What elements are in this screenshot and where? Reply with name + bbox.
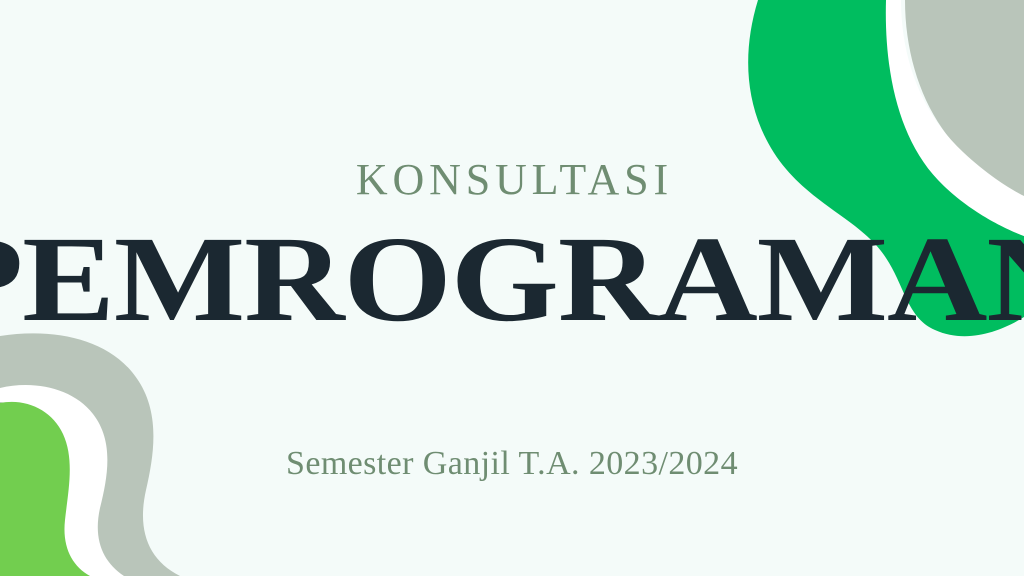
slide-eyebrow: KONSULTASI xyxy=(0,158,1024,202)
title-slide: KONSULTASI PEMROGRAMAN Semester Ganjil T… xyxy=(0,0,1024,576)
slide-subtitle: Semester Ganjil T.A. 2023/2024 xyxy=(0,447,1024,481)
slide-text-content: KONSULTASI PEMROGRAMAN Semester Ganjil T… xyxy=(0,0,1024,576)
page-title: PEMROGRAMAN xyxy=(0,218,1024,340)
